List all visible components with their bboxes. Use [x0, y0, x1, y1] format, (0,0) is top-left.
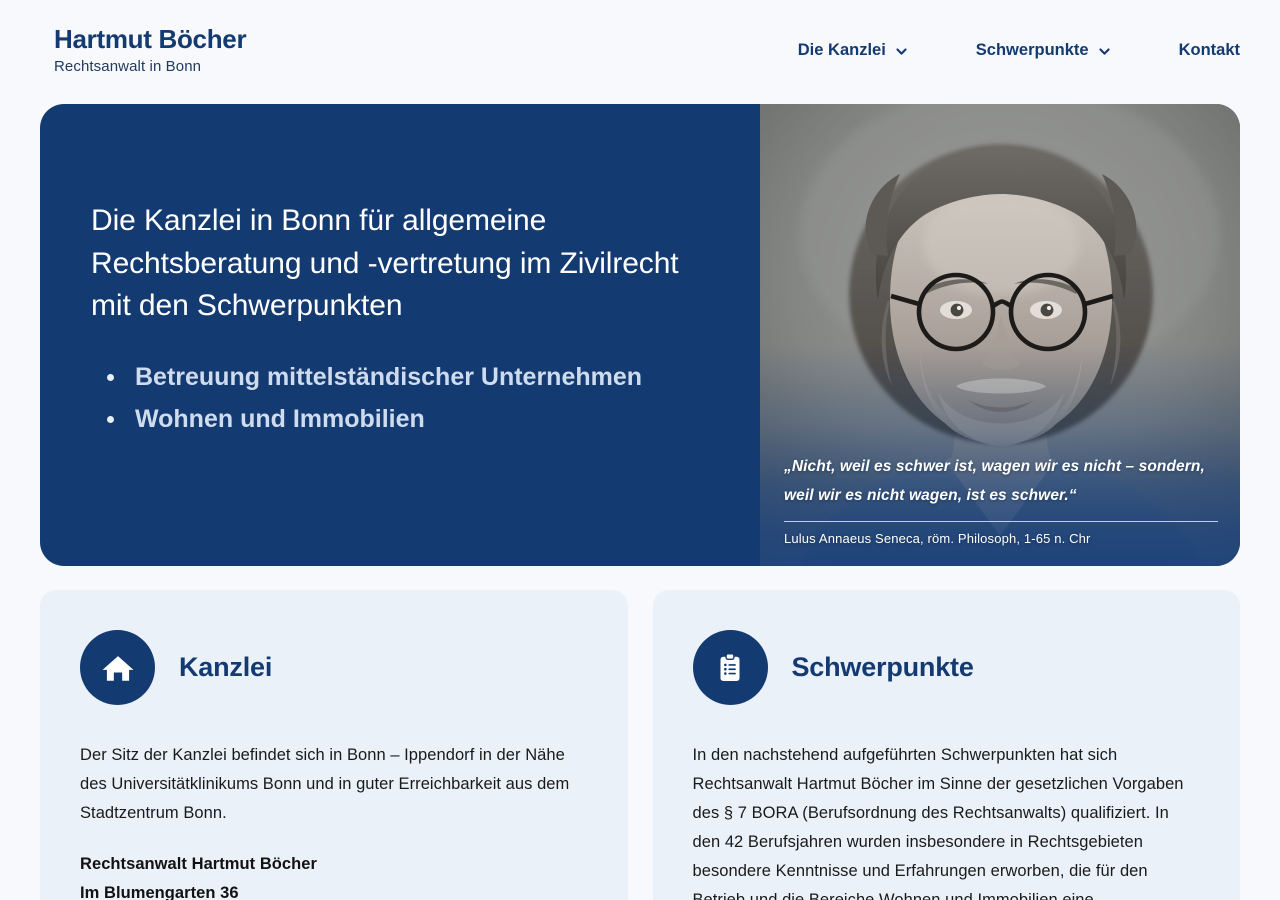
nav-item-schwerpunkte[interactable]: Schwerpunkte — [976, 41, 1111, 60]
brand-block[interactable]: Hartmut Böcher Rechtsanwalt in Bonn — [54, 25, 246, 76]
card-address: Rechtsanwalt Hartmut Böcher Im Blumengar… — [80, 850, 588, 900]
nav-item-label: Die Kanzlei — [798, 41, 886, 60]
nav-item-die-kanzlei[interactable]: Die Kanzlei — [798, 41, 908, 60]
card-kanzlei[interactable]: Kanzlei Der Sitz der Kanzlei befindet si… — [40, 590, 628, 900]
brand-subtitle: Rechtsanwalt in Bonn — [54, 58, 246, 75]
card-title: Schwerpunkte — [792, 652, 974, 683]
card-body-text: In den nachstehend aufgeführten Schwerpu… — [693, 741, 1201, 900]
nav-item-label: Kontakt — [1179, 41, 1240, 60]
hero-portrait-photo: „Nicht, weil es schwer ist, wagen wir es… — [760, 104, 1240, 566]
hero-panel: Die Kanzlei in Bonn für allgemeine Recht… — [40, 104, 1240, 566]
quote-text: „Nicht, weil es schwer ist, wagen wir es… — [784, 452, 1218, 512]
address-line-2: Im Blumengarten 36 — [80, 879, 588, 900]
hero-bullet-item: Betreuung mittelständischer Unternehmen — [91, 358, 651, 396]
quote-author: Lulus Annaeus Seneca, röm. Philosoph, 1-… — [784, 531, 1218, 546]
clipboard-list-icon — [693, 630, 768, 705]
card-schwerpunkte[interactable]: Schwerpunkte In den nachstehend aufgefüh… — [653, 590, 1241, 900]
hero-title: Die Kanzlei in Bonn für allgemeine Recht… — [91, 200, 716, 328]
main-navigation: Die Kanzlei Schwerpunkte Kontakt — [798, 41, 1240, 60]
card-header: Kanzlei — [80, 630, 588, 705]
site-header: Hartmut Böcher Rechtsanwalt in Bonn Die … — [0, 0, 1280, 100]
chevron-down-icon[interactable] — [895, 45, 908, 58]
card-title: Kanzlei — [179, 652, 272, 683]
home-icon — [80, 630, 155, 705]
nav-item-kontakt[interactable]: Kontakt — [1179, 41, 1240, 60]
nav-item-label: Schwerpunkte — [976, 41, 1089, 60]
chevron-down-icon[interactable] — [1098, 45, 1111, 58]
hero-quote-block: „Nicht, weil es schwer ist, wagen wir es… — [784, 452, 1218, 547]
hero-bullet-item: Wohnen und Immobilien — [91, 400, 651, 438]
info-cards: Kanzlei Der Sitz der Kanzlei befindet si… — [40, 590, 1240, 900]
brand-name: Hartmut Böcher — [54, 25, 246, 54]
card-body-text: Der Sitz der Kanzlei befindet sich in Bo… — [80, 741, 588, 828]
quote-divider — [784, 521, 1218, 522]
hero-content: Die Kanzlei in Bonn für allgemeine Recht… — [40, 104, 760, 566]
address-line-1: Rechtsanwalt Hartmut Böcher — [80, 850, 588, 879]
card-header: Schwerpunkte — [693, 630, 1201, 705]
hero-bullet-list: Betreuung mittelständischer Unternehmen … — [91, 358, 760, 438]
